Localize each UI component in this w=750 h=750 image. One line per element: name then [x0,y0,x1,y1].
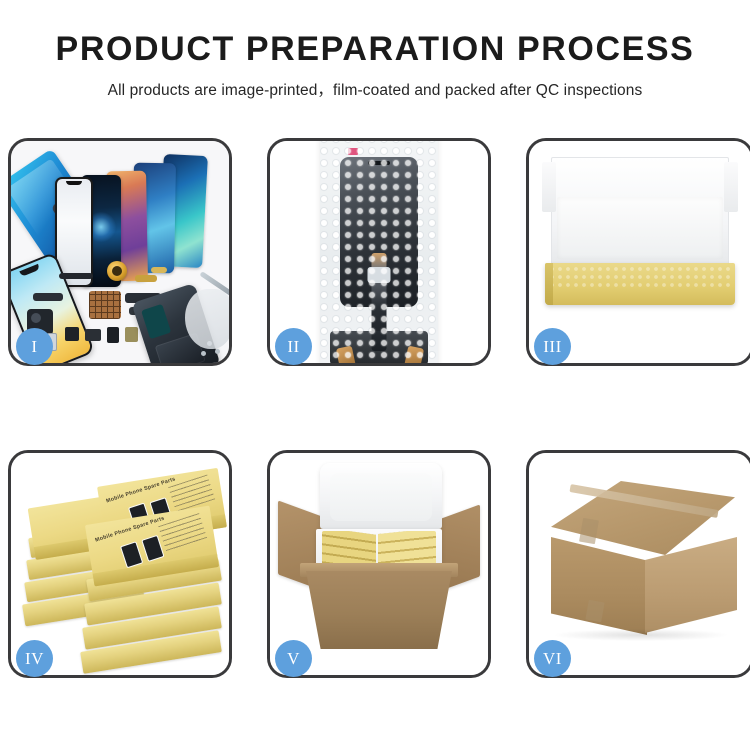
screw-tray-icon [89,291,121,319]
box-stack: Mobile Phone Spare Parts Mobile Phone Sp… [15,471,229,667]
earpiece-slot-icon [368,161,390,165]
step-panel-4: Mobile Phone Spare Parts Mobile Phone Sp… [8,450,232,678]
yellow-box-tray-icon [545,263,735,305]
step-panel-6: VI [526,450,750,678]
qc-sticker-icon [348,148,358,155]
step-badge-2: II [275,328,312,365]
box-spec-lines [158,513,207,552]
screw-icon [215,349,220,354]
infographic-page: PRODUCT PREPARATION PROCESS All products… [0,0,750,750]
step-panel-2: II [267,138,491,366]
header: PRODUCT PREPARATION PROCESS All products… [0,0,750,100]
box-screen-print-icon [120,541,143,568]
phone-notch-icon [66,181,82,185]
step-badge-3: III [534,328,571,365]
power-button-flex-icon [135,275,157,282]
step-panel-1: I [8,138,232,366]
earpiece-mesh-icon [33,293,63,301]
foam-pad-icon [557,197,723,259]
step-6-image [529,453,750,675]
step-panel-5: V [267,450,491,678]
screw-icon [201,351,206,356]
carton-tape-patch-icon [585,600,604,622]
step-badge-1: I [16,328,53,365]
process-step-grid: I II [8,138,742,694]
speaker-bar-icon [59,273,93,279]
foam-lid-icon [320,463,442,529]
page-subtitle: All products are image-printed，film-coat… [0,78,750,100]
volume-button-flex-icon [151,267,167,273]
chip-part-b-icon [85,329,101,341]
step-badge-6: VI [534,640,571,677]
connector-right-icon [404,346,424,363]
page-title: PRODUCT PREPARATION PROCESS [0,32,750,68]
step-badge-5: V [275,640,312,677]
bubble-wrap-bag-icon [320,141,438,363]
chip-part-c-icon [107,327,119,343]
carton-body-icon [306,571,452,649]
carton-shadow [555,629,727,641]
vibration-motor-icon [107,261,127,281]
step-badge-4: IV [16,640,53,677]
battery-connector-icon [125,327,138,342]
hand-icon [185,289,229,349]
step-panel-3: III [526,138,750,366]
step-3-image [529,141,750,363]
carton-tape-patch-icon [579,518,599,544]
chip-part-a-icon [65,327,79,341]
